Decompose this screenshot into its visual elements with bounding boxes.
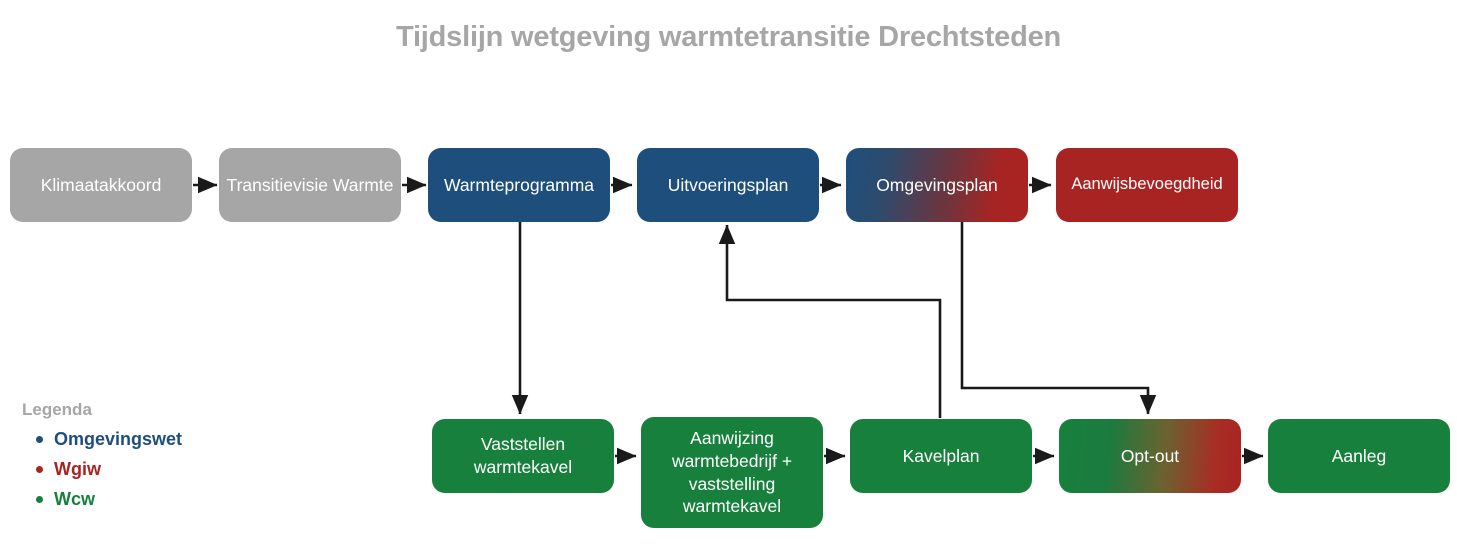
node-label: Kavelplan bbox=[903, 445, 980, 468]
node-vaststellen-warmtekavel[interactable]: Vaststellen warmtekavel bbox=[432, 419, 614, 493]
bullet-icon bbox=[36, 466, 43, 473]
node-aanwijzing-warmtebedrijf[interactable]: Aanwijzing warmtebedrijf + vaststelling … bbox=[641, 417, 823, 528]
connector-kavelplan-to-uitvoeringsplan bbox=[727, 225, 940, 418]
node-label: Vaststellen warmtekavel bbox=[438, 433, 608, 479]
legend-item-label: Wgiw bbox=[54, 454, 101, 484]
node-aanleg[interactable]: Aanleg bbox=[1268, 419, 1450, 493]
node-klimaatakkoord[interactable]: Klimaatakkoord bbox=[10, 148, 192, 222]
diagram-canvas: Tijdslijn wetgeving warmtetransitie Drec… bbox=[0, 0, 1457, 560]
node-aanwijsbevoegdheid[interactable]: Aanwijsbevoegdheid bbox=[1056, 148, 1238, 222]
legend-title: Legenda bbox=[22, 400, 282, 420]
node-label: Opt-out bbox=[1121, 445, 1179, 468]
legend-item-label: Omgevingswet bbox=[54, 424, 182, 454]
node-kavelplan[interactable]: Kavelplan bbox=[850, 419, 1032, 493]
legend-item-wgiw: Wgiw bbox=[36, 454, 282, 484]
node-opt-out[interactable]: Opt-out bbox=[1059, 419, 1241, 493]
legend-item-label: Wcw bbox=[54, 484, 95, 514]
legend-list: Omgevingswet Wgiw Wcw bbox=[22, 424, 282, 514]
legend: Legenda Omgevingswet Wgiw Wcw bbox=[22, 400, 282, 514]
page-title: Tijdslijn wetgeving warmtetransitie Drec… bbox=[0, 21, 1457, 54]
node-label: Uitvoeringsplan bbox=[668, 174, 789, 197]
connector-omgevingsplan-to-optout bbox=[962, 222, 1148, 414]
node-label: Warmteprogramma bbox=[444, 174, 594, 197]
node-label: Klimaatakkoord bbox=[41, 174, 162, 197]
node-warmteprogramma[interactable]: Warmteprogramma bbox=[428, 148, 610, 222]
node-uitvoeringsplan[interactable]: Uitvoeringsplan bbox=[637, 148, 819, 222]
bullet-icon bbox=[36, 436, 43, 443]
node-label: Omgevingsplan bbox=[876, 174, 998, 197]
legend-item-omgevingswet: Omgevingswet bbox=[36, 424, 282, 454]
node-label: Aanwijsbevoegdheid bbox=[1071, 174, 1222, 195]
node-label: Transitievisie Warmte bbox=[227, 174, 394, 197]
node-label: Aanleg bbox=[1332, 445, 1387, 468]
node-label: Aanwijzing warmtebedrijf + vaststelling … bbox=[647, 427, 817, 518]
legend-item-wcw: Wcw bbox=[36, 484, 282, 514]
node-transitievisie-warmte[interactable]: Transitievisie Warmte bbox=[219, 148, 401, 222]
node-omgevingsplan[interactable]: Omgevingsplan bbox=[846, 148, 1028, 222]
bullet-icon bbox=[36, 496, 43, 503]
